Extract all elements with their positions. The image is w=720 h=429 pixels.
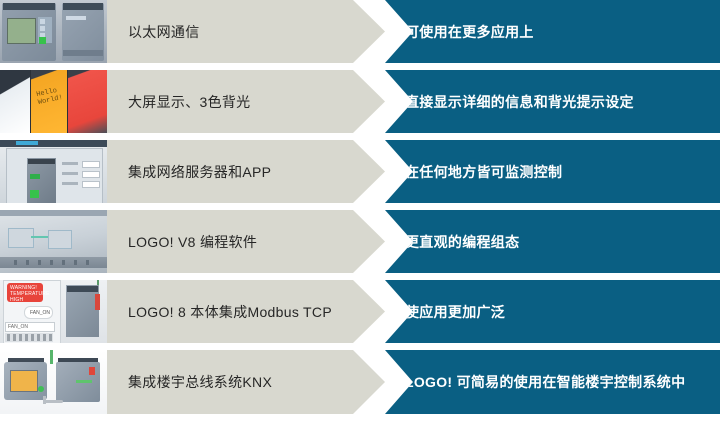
- benefit-band[interactable]: 更直观的编程组态: [385, 210, 720, 273]
- feature-chevron-board: 以太网通信 可使用在更多应用上 Hello World! 大屏显示、3色背光 直…: [0, 0, 720, 429]
- web-server-screen-photo: [0, 140, 107, 203]
- feature-band[interactable]: 集成网络服务器和APP: [107, 140, 385, 203]
- programming-software-photo: [0, 210, 107, 273]
- feature-band[interactable]: LOGO! 8 本体集成Modbus TCP: [107, 280, 385, 343]
- benefit-band[interactable]: 在任何地方皆可监测控制: [385, 140, 720, 203]
- knx-building-bus-photo: [0, 350, 107, 414]
- feature-label: 大屏显示、3色背光: [128, 92, 251, 112]
- feature-row: 以太网通信 可使用在更多应用上: [0, 0, 720, 63]
- benefit-band[interactable]: 直接显示详细的信息和背光提示设定: [385, 70, 720, 133]
- feature-row: Hello World! 大屏显示、3色背光 直接显示详细的信息和背光提示设定: [0, 70, 720, 133]
- feature-row: WARNING!TEMPERATUREHIGH FAN_ON FAN_ON LO…: [0, 280, 720, 343]
- feature-row: 集成网络服务器和APP 在任何地方皆可监测控制: [0, 140, 720, 203]
- phone-alarm-module-photo: WARNING!TEMPERATUREHIGH FAN_ON FAN_ON: [0, 280, 107, 343]
- benefit-label: 更直观的编程组态: [405, 232, 519, 252]
- photo-caption-text: Hello World!: [36, 85, 69, 107]
- feature-band[interactable]: 大屏显示、3色背光: [107, 70, 385, 133]
- feature-label: 以太网通信: [128, 22, 200, 42]
- benefit-label: 使应用更加广泛: [405, 302, 505, 322]
- logo-controllers-photo: [0, 0, 107, 63]
- feature-row: LOGO! V8 编程软件 更直观的编程组态: [0, 210, 720, 273]
- feature-label: 集成楼宇总线系统KNX: [128, 372, 272, 392]
- feature-label: 集成网络服务器和APP: [128, 162, 271, 182]
- benefit-band[interactable]: LOGO! 可简易的使用在智能楼宇控制系统中: [385, 350, 720, 414]
- backlit-display-panels-photo: Hello World!: [0, 70, 107, 133]
- benefit-band[interactable]: 可使用在更多应用上: [385, 0, 720, 63]
- benefit-band[interactable]: 使应用更加广泛: [385, 280, 720, 343]
- feature-label: LOGO! V8 编程软件: [128, 232, 257, 252]
- benefit-label: LOGO! 可简易的使用在智能楼宇控制系统中: [405, 372, 685, 392]
- feature-label: LOGO! 8 本体集成Modbus TCP: [128, 302, 332, 322]
- feature-band[interactable]: 集成楼宇总线系统KNX: [107, 350, 385, 414]
- benefit-label: 在任何地方皆可监测控制: [405, 162, 562, 182]
- benefit-label: 直接显示详细的信息和背光提示设定: [405, 92, 634, 112]
- feature-band[interactable]: LOGO! V8 编程软件: [107, 210, 385, 273]
- benefit-label: 可使用在更多应用上: [405, 22, 534, 42]
- feature-row: 集成楼宇总线系统KNX LOGO! 可简易的使用在智能楼宇控制系统中: [0, 350, 720, 414]
- feature-band[interactable]: 以太网通信: [107, 0, 385, 63]
